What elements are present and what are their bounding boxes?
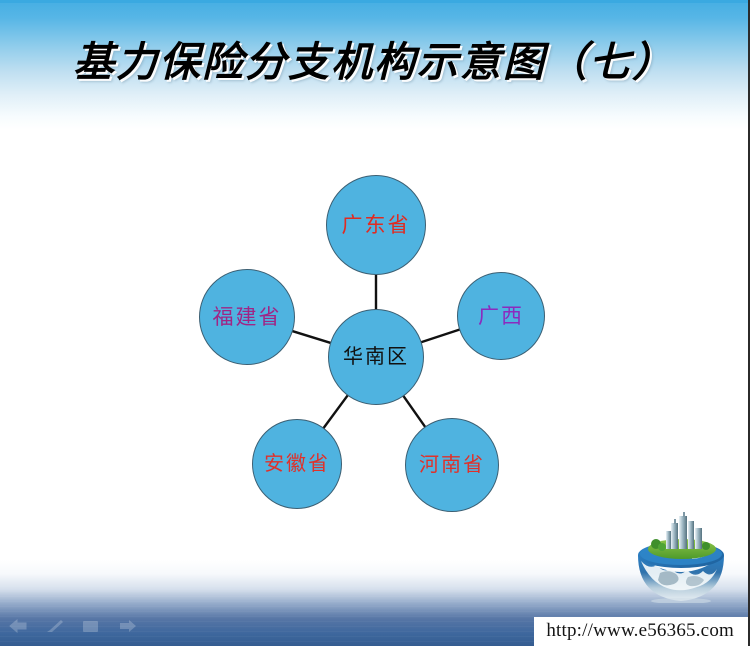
diagram-edge [323,395,348,429]
diagram-branch-node[interactable]: 广东省 [326,175,426,275]
watermark-url: http://www.e56365.com [534,617,748,646]
node-label: 广西 [478,306,524,327]
diagram-branch-node[interactable]: 河南省 [405,418,499,512]
back-arrow-icon[interactable] [8,618,30,634]
diagram-branch-node[interactable]: 安徽省 [252,419,342,509]
diagram-branch-node[interactable]: 福建省 [199,269,295,365]
globe-city-logo [630,511,732,603]
node-label: 安徽省 [264,454,330,474]
slide-canvas: 基力保险分支机构示意图（七） 广东省广西河南省安徽省福建省华南区 [0,0,750,646]
forward-arrow-icon[interactable] [116,618,138,634]
node-label: 福建省 [213,307,282,328]
square-icon[interactable] [80,618,102,634]
diagram-branch-node[interactable]: 广西 [457,272,545,360]
diagram-edge [292,331,331,343]
ghost-navigation-bar[interactable] [8,618,138,634]
watermark-url-text: http://www.e56365.com [546,620,734,641]
node-label: 华南区 [343,347,409,367]
node-label: 河南省 [419,455,485,475]
diagram-center-node[interactable]: 华南区 [328,309,424,405]
node-label: 广东省 [342,215,411,236]
pen-icon[interactable] [44,618,66,634]
diagram-edge [403,395,425,427]
diagram-edge [421,329,460,342]
